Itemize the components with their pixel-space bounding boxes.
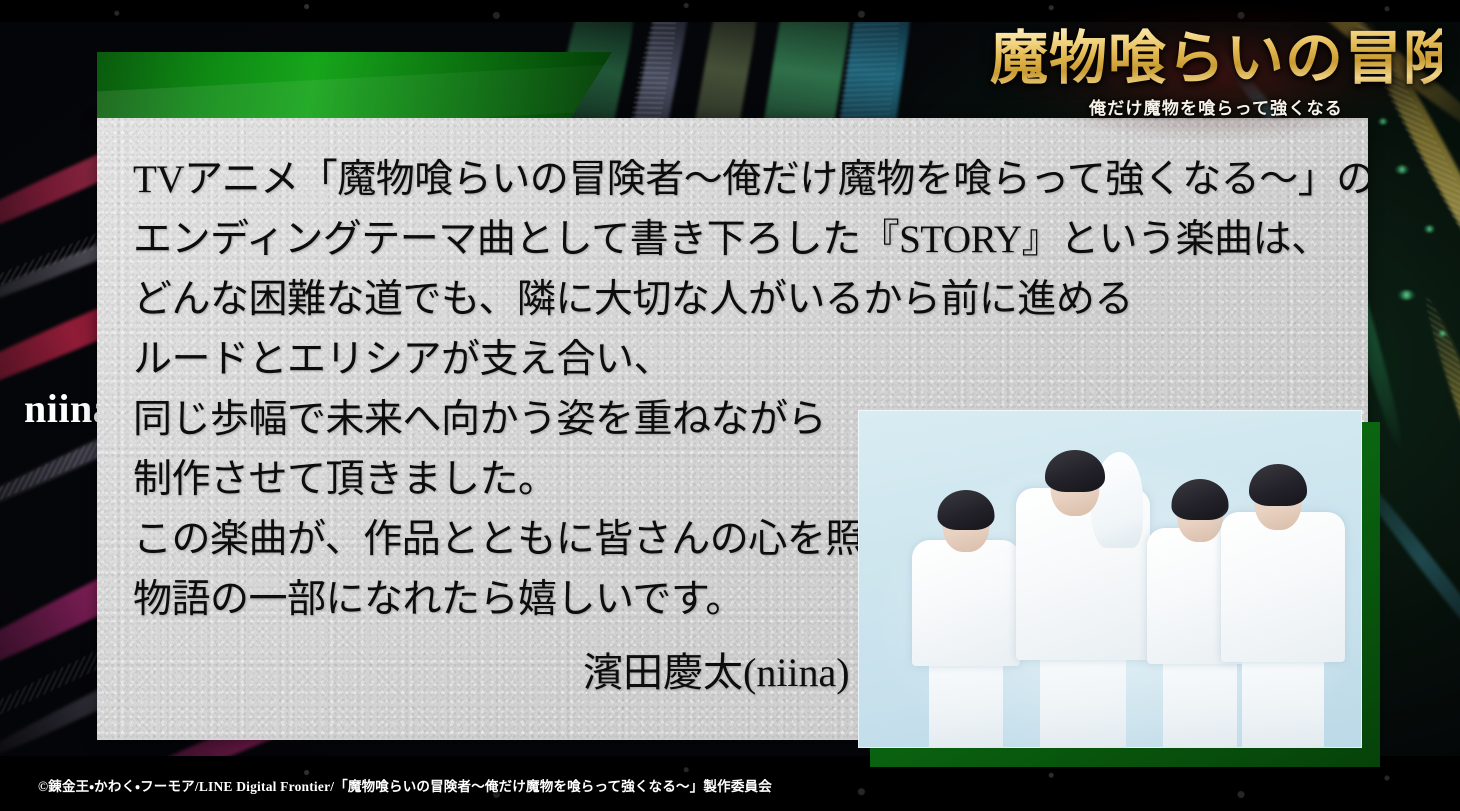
band-member (1013, 448, 1153, 748)
comment-banner (97, 52, 612, 118)
copyright-notice: ©錬金王・かわく・フーモア/LINE Digital Frontier/「魔物喰… (38, 775, 772, 795)
promo-slide: 魔物喰らいの冒険者 俺だけ魔物を喰らって強くなる niinaさんよりコメント T… (0, 0, 1460, 811)
artist-photo (858, 410, 1362, 748)
band-member (1218, 470, 1348, 748)
artist-photo-container (858, 410, 1368, 755)
comment-line: どんな困難な道でも、隣に大切な人がいるから前に進める (133, 270, 1333, 330)
top-grunge-bar (0, 0, 1460, 22)
logo-title: 魔物喰らいの冒険者 (990, 24, 1442, 94)
comment-line: エンディングテーマ曲として書き下ろした『STORY』という楽曲は、 (133, 210, 1333, 270)
series-logo: 魔物喰らいの冒険者 俺だけ魔物を喰らって強くなる (990, 24, 1442, 120)
comment-line: TVアニメ「魔物喰らいの冒険者〜俺だけ魔物を喰らって強くなる〜」の (133, 150, 1333, 210)
band-member (910, 500, 1022, 748)
comment-line: ルードとエリシアが支え合い、 (133, 330, 1333, 390)
logo-subtitle: 俺だけ魔物を喰らって強くなる (990, 98, 1442, 120)
